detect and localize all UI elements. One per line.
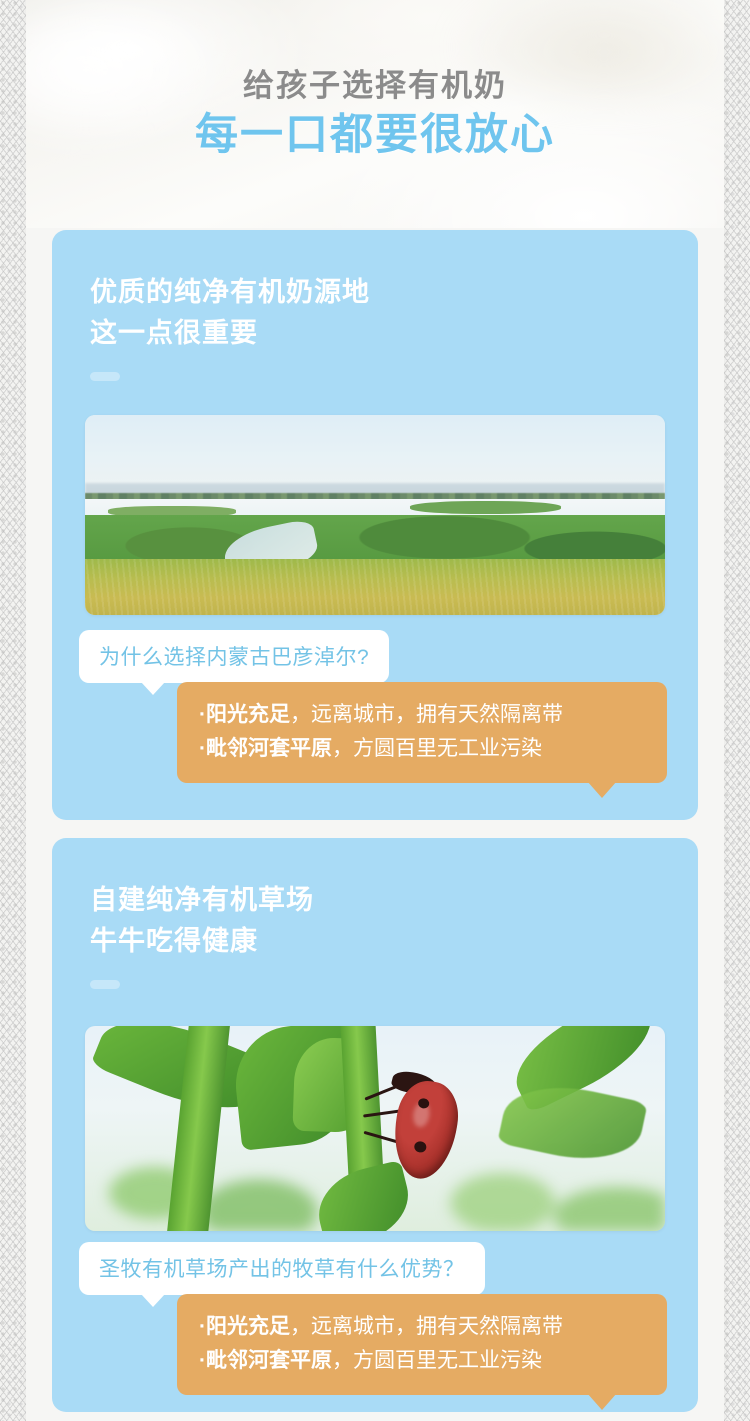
product-detail-page: 给孩子选择有机奶 每一口都要很放心 优质的纯净有机奶源地 这一点很重要 为什么选… bbox=[0, 0, 750, 1421]
bullet-dot-icon: · bbox=[199, 1349, 206, 1372]
section-2-question-bubble: 圣牧有机草场产出的牧草有什么优势？ bbox=[79, 1242, 485, 1295]
answer-line: ·毗邻河套平原，方圆百里无工业污染 bbox=[199, 1344, 645, 1378]
bubble-tail-icon bbox=[141, 1294, 165, 1307]
section-2-photo bbox=[85, 1026, 665, 1231]
section-2-answer-box: ·阳光充足，远离城市，拥有天然隔离带 ·毗邻河套平原，方圆百里无工业污染 bbox=[177, 1294, 667, 1395]
answer-rest-text: ，远离城市，拥有天然隔离带 bbox=[290, 703, 563, 726]
bullet-dot-icon: · bbox=[199, 737, 206, 760]
right-knit-texture-strip bbox=[724, 0, 750, 1421]
section-2-heading-line-2: 牛牛吃得健康 bbox=[90, 921, 698, 962]
answer-line: ·毗邻河套平原，方圆百里无工业污染 bbox=[199, 732, 645, 766]
answer-bold-text: 阳光充足 bbox=[206, 1315, 290, 1338]
section-card-1: 优质的纯净有机奶源地 这一点很重要 为什么选择内蒙古巴彦淖尔? ·阳光充足，远离… bbox=[52, 230, 698, 820]
section-2-question-text: 圣牧有机草场产出的牧草有什么优势？ bbox=[99, 1258, 465, 1281]
answer-bold-text: 毗邻河套平原 bbox=[206, 737, 332, 760]
bullet-dot-icon: · bbox=[199, 703, 206, 726]
section-2-heading-line-1: 自建纯净有机草场 bbox=[90, 880, 698, 921]
grassland-illustration bbox=[85, 415, 665, 615]
answer-bold-text: 阳光充足 bbox=[206, 703, 290, 726]
section-1-heading-line-1: 优质的纯净有机奶源地 bbox=[90, 272, 698, 313]
bubble-tail-icon bbox=[141, 682, 165, 695]
answer-line: ·阳光充足，远离城市，拥有天然隔离带 bbox=[199, 1310, 645, 1344]
answer-line: ·阳光充足，远离城市，拥有天然隔离带 bbox=[199, 698, 645, 732]
ladybug-illustration bbox=[85, 1026, 665, 1231]
answer-rest-text: ，远离城市，拥有天然隔离带 bbox=[290, 1315, 563, 1338]
answer-bold-text: 毗邻河套平原 bbox=[206, 1349, 332, 1372]
answer-tail-icon bbox=[587, 781, 617, 798]
hero-subtitle: 给孩子选择有机奶 bbox=[26, 68, 724, 104]
section-1-photo bbox=[85, 415, 665, 615]
hero-banner: 给孩子选择有机奶 每一口都要很放心 bbox=[26, 0, 724, 228]
bullet-dot-icon: · bbox=[199, 1315, 206, 1338]
section-1-heading: 优质的纯净有机奶源地 这一点很重要 bbox=[52, 230, 698, 381]
golden-field-layer bbox=[85, 559, 665, 615]
section-1-heading-line-2: 这一点很重要 bbox=[90, 313, 698, 354]
answer-rest-text: ，方圆百里无工业污染 bbox=[332, 1349, 542, 1372]
section-card-2: 自建纯净有机草场 牛牛吃得健康 bbox=[52, 838, 698, 1412]
answer-rest-text: ，方圆百里无工业污染 bbox=[332, 737, 542, 760]
left-knit-texture-strip bbox=[0, 0, 26, 1421]
section-1-question-text: 为什么选择内蒙古巴彦淖尔? bbox=[99, 646, 369, 669]
hero-title: 每一口都要很放心 bbox=[26, 110, 724, 162]
section-1-answer-box: ·阳光充足，远离城市，拥有天然隔离带 ·毗邻河套平原，方圆百里无工业污染 bbox=[177, 682, 667, 783]
section-2-divider bbox=[90, 980, 120, 989]
shell-spot bbox=[414, 1141, 428, 1154]
section-2-heading: 自建纯净有机草场 牛牛吃得健康 bbox=[52, 838, 698, 989]
section-1-question-bubble: 为什么选择内蒙古巴彦淖尔? bbox=[79, 630, 389, 683]
section-1-divider bbox=[90, 372, 120, 381]
answer-tail-icon bbox=[587, 1393, 617, 1410]
